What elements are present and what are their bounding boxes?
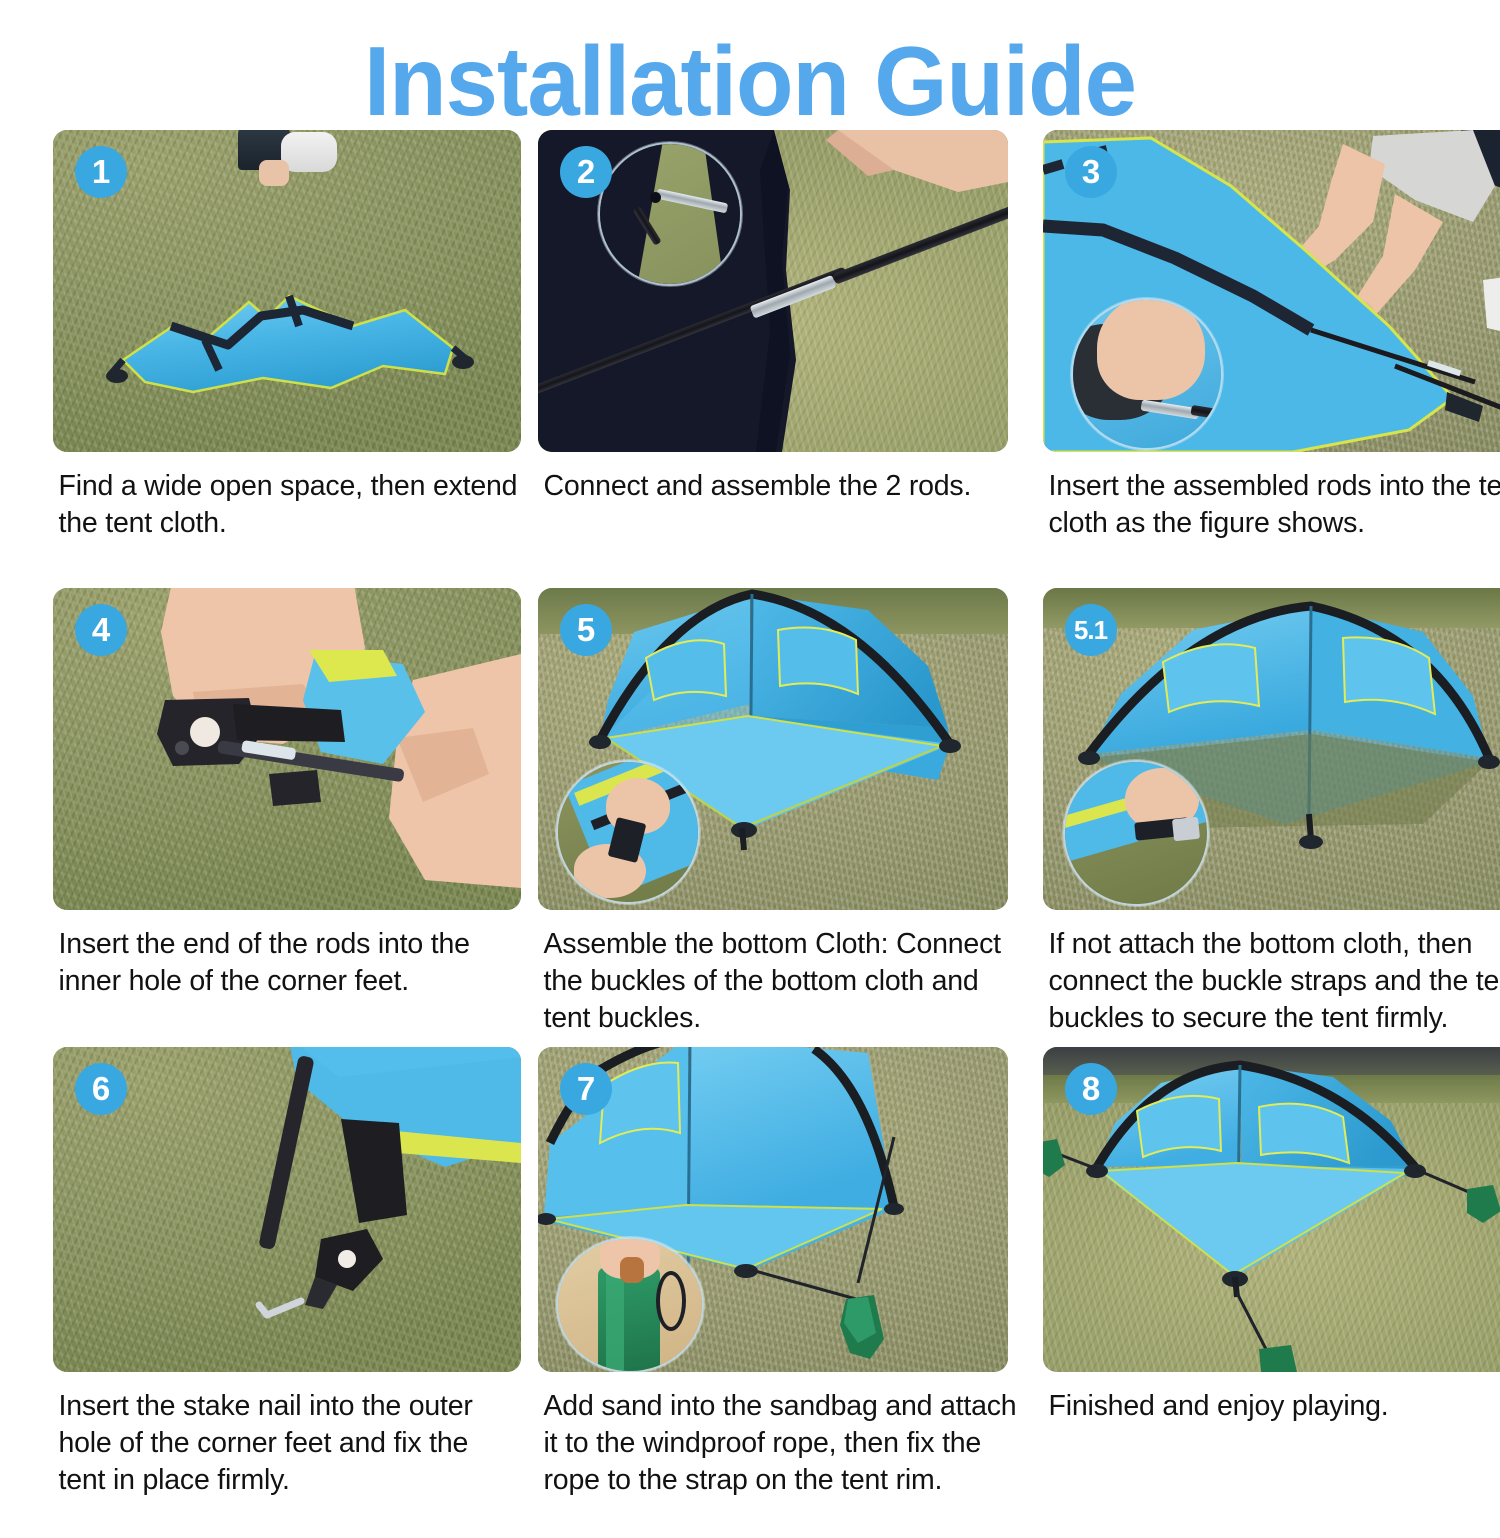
step-photo-1: 1 [53, 130, 521, 452]
step-badge-5-1: 5.1 [1065, 604, 1117, 656]
inset-fill-sandbag [556, 1237, 704, 1372]
step-caption-4: Insert the end of the rods into the inne… [53, 910, 523, 1046]
step-caption-5-1: If not attach the bottom cloth, then con… [1043, 910, 1500, 1047]
step-badge-2: 2 [560, 146, 612, 198]
step-badge-8: 8 [1065, 1063, 1117, 1115]
inset-rod-into-sleeve [1071, 298, 1223, 450]
step-caption-6: Insert the stake nail into the outer hol… [53, 1372, 523, 1538]
step-card-7: 7 Add sand into the sandbag and attach i… [538, 1047, 1028, 1538]
step-caption-2: Connect and assemble the 2 rods. [538, 452, 1028, 588]
inset-rod-joint [598, 142, 742, 286]
step-card-2: 2 Connect and assemble the 2 rods. [538, 130, 1028, 588]
step-card-5-1: 5.1 If not attach the bottom cloth, then… [1043, 588, 1500, 1047]
step-card-5: 5 Assemble the bottom Cloth: Connect the… [538, 588, 1028, 1047]
step-caption-7: Add sand into the sandbag and attach it … [538, 1372, 1028, 1538]
page-title: Installation Guide [30, 0, 1470, 130]
step-photo-3: 3 [1043, 130, 1500, 452]
step-photo-6: 6 [53, 1047, 521, 1372]
step-badge-3: 3 [1065, 146, 1117, 198]
step-caption-5: Assemble the bottom Cloth: Connect the b… [538, 910, 1028, 1047]
inset-buckle-strap [1063, 760, 1209, 906]
step-photo-5-1: 5.1 [1043, 588, 1500, 910]
step-card-4: 4 Insert the end of the rods into the in… [53, 588, 523, 1047]
step-photo-5: 5 [538, 588, 1008, 910]
step-badge-7: 7 [560, 1063, 612, 1115]
steps-grid: 1 Find a wide open space, then extend th… [23, 130, 1478, 1538]
step-photo-7: 7 [538, 1047, 1008, 1372]
step-badge-1: 1 [75, 146, 127, 198]
step-caption-8: Finished and enjoy playing. [1043, 1372, 1500, 1538]
step-badge-5: 5 [560, 604, 612, 656]
step-card-6: 6 Insert the stake nail into the outer h… [53, 1047, 523, 1538]
step-card-8: 8 Finished and enjoy playing. [1043, 1047, 1500, 1538]
step-photo-4: 4 [53, 588, 521, 910]
step-badge-6: 6 [75, 1063, 127, 1115]
step-caption-1: Find a wide open space, then extend the … [53, 452, 523, 588]
step-card-1: 1 Find a wide open space, then extend th… [53, 130, 523, 588]
step-card-3: 3 Insert the assembled rods into the ten… [1043, 130, 1500, 588]
installation-guide-page: Installation Guide [0, 0, 1500, 1500]
step-photo-2: 2 [538, 130, 1008, 452]
step-photo-8: 8 [1043, 1047, 1500, 1372]
step-badge-4: 4 [75, 604, 127, 656]
step-caption-3: Insert the assembled rods into the tent … [1043, 452, 1500, 588]
inset-buckle-connect [556, 760, 700, 904]
